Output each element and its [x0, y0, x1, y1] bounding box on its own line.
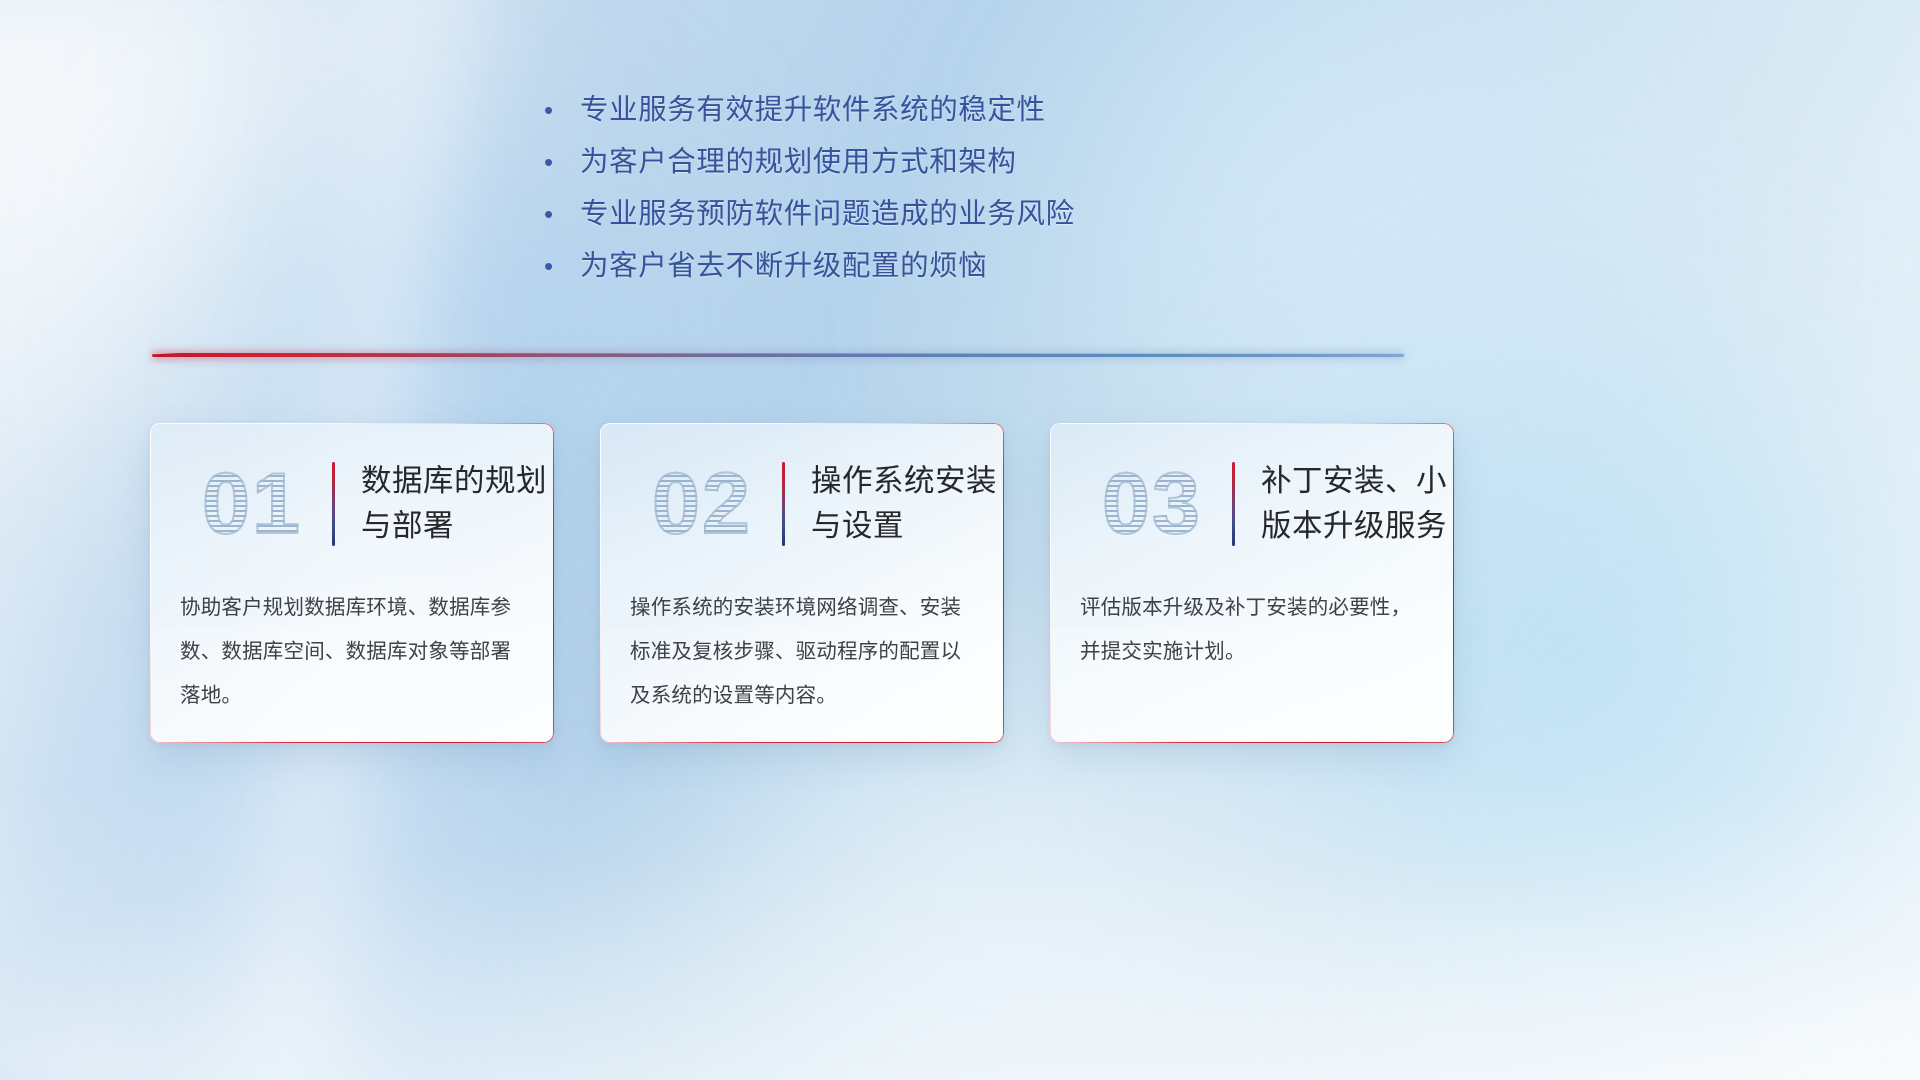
card-divider-bar — [1232, 462, 1235, 546]
service-card[interactable]: 01 数据库的规划与部署 协助客户规划数据库环境、数据库参数、数据库空间、数据库… — [150, 423, 554, 743]
bullet-dot-icon: • — [534, 88, 580, 132]
card-header: 01 数据库的规划与部署 — [150, 445, 554, 563]
card-body-text: 评估版本升级及补丁安装的必要性，并提交实施计划。 — [1080, 586, 1428, 674]
bullet-text: 专业服务有效提升软件系统的稳定性 — [580, 88, 1046, 132]
list-item: • 为客户省去不断升级配置的烦恼 — [534, 244, 1374, 296]
bullet-text: 专业服务预防软件问题造成的业务风险 — [580, 192, 1075, 236]
card-number: 02 — [622, 445, 782, 563]
background-bottom-veil — [0, 780, 1920, 1080]
service-card[interactable]: 03 补丁安装、小版本升级服务 评估版本升级及补丁安装的必要性，并提交实施计划。 — [1050, 423, 1454, 743]
section-divider — [152, 349, 1404, 363]
bullet-dot-icon: • — [534, 244, 580, 288]
bullet-dot-icon: • — [534, 140, 580, 184]
card-body-text: 操作系统的安装环境网络调查、安装标准及复核步骤、驱动程序的配置以及系统的设置等内… — [630, 586, 978, 718]
card-divider-bar — [332, 462, 335, 546]
card-body-text: 协助客户规划数据库环境、数据库参数、数据库空间、数据库对象等部署落地。 — [180, 586, 528, 718]
card-number: 03 — [1072, 445, 1232, 563]
card-title: 操作系统安装与设置 — [811, 459, 1004, 549]
card-divider-bar — [782, 462, 785, 546]
list-item: • 专业服务预防软件问题造成的业务风险 — [534, 192, 1374, 244]
card-title: 数据库的规划与部署 — [361, 459, 554, 549]
bullet-text: 为客户合理的规划使用方式和架构 — [580, 140, 1017, 184]
card-header: 02 操作系统安装与设置 — [600, 445, 1004, 563]
benefits-bullet-list: • 专业服务有效提升软件系统的稳定性 • 为客户合理的规划使用方式和架构 • 专… — [534, 88, 1374, 296]
bullet-dot-icon: • — [534, 192, 580, 236]
bullet-text: 为客户省去不断升级配置的烦恼 — [580, 244, 987, 288]
card-header: 03 补丁安装、小版本升级服务 — [1050, 445, 1454, 563]
service-card[interactable]: 02 操作系统安装与设置 操作系统的安装环境网络调查、安装标准及复核步骤、驱动程… — [600, 423, 1004, 743]
card-title: 补丁安装、小版本升级服务 — [1261, 459, 1454, 549]
list-item: • 为客户合理的规划使用方式和架构 — [534, 140, 1374, 192]
service-card-group: 01 数据库的规划与部署 协助客户规划数据库环境、数据库参数、数据库空间、数据库… — [150, 423, 1454, 743]
list-item: • 专业服务有效提升软件系统的稳定性 — [534, 88, 1374, 140]
card-number: 01 — [172, 445, 332, 563]
